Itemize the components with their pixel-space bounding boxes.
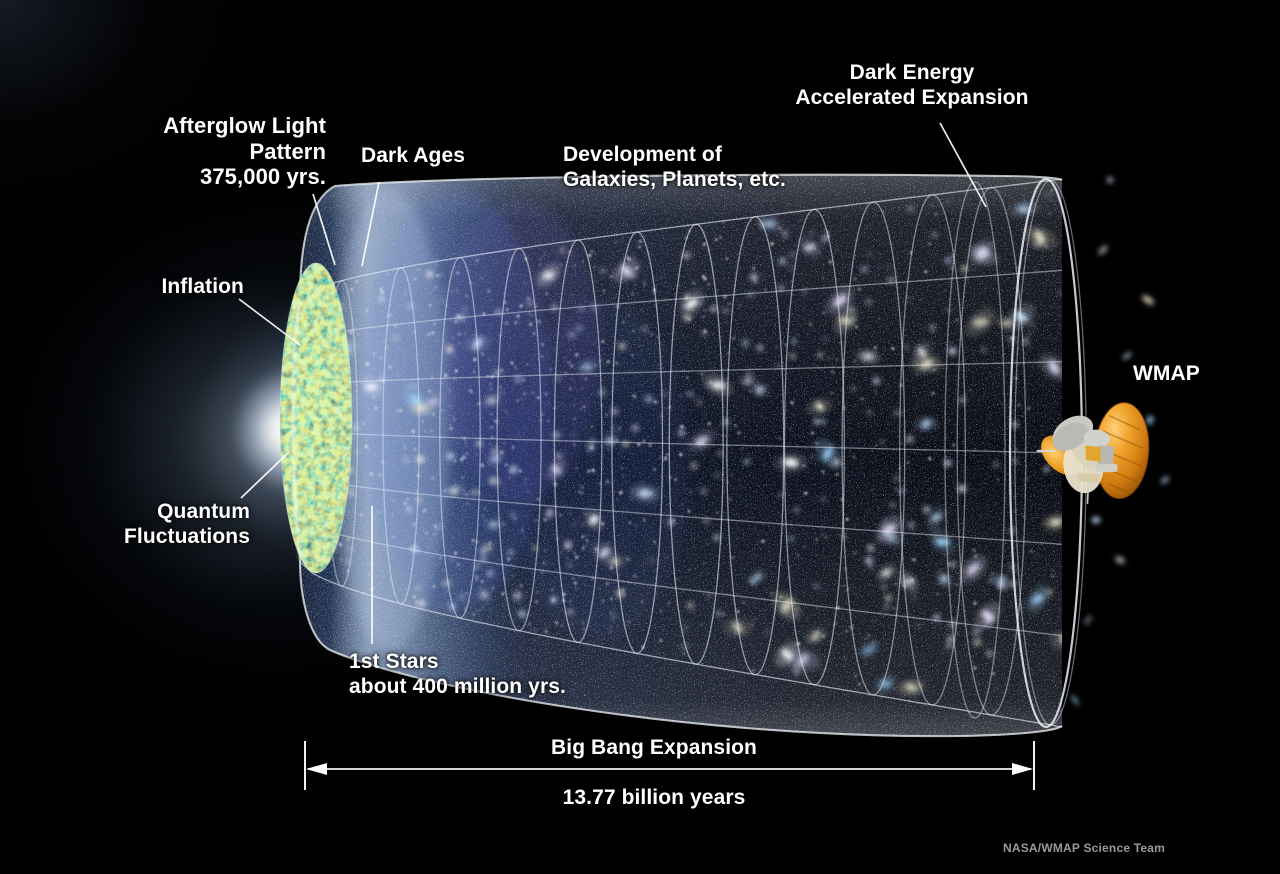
cmb-disc xyxy=(275,260,360,580)
wmap-satellite xyxy=(1018,382,1178,522)
credit-line: NASA/WMAP Science Team xyxy=(934,841,1234,855)
arrowhead-right xyxy=(1012,763,1033,775)
label-dark-energy: Dark Energy Accelerated Expansion xyxy=(760,61,1064,110)
label-development-of-galaxies: Development of Galaxies, Planets, etc. xyxy=(563,143,786,192)
label-dark-ages: Dark Ages xyxy=(361,144,465,169)
label-afterglow-light-pattern: Afterglow Light Pattern 375,000 yrs. xyxy=(60,113,326,190)
label-wmap: WMAP xyxy=(1133,362,1200,387)
label-inflation: Inflation xyxy=(60,275,244,300)
label-total-years: 13.77 billion years xyxy=(424,786,884,811)
label-big-bang-expansion: Big Bang Expansion xyxy=(424,736,884,761)
universe-timeline-figure: Afterglow Light Pattern 375,000 yrs. Inf… xyxy=(0,0,1280,874)
label-quantum-fluctuations: Quantum Fluctuations xyxy=(60,500,250,549)
arrowhead-left xyxy=(306,763,327,775)
label-first-stars: 1st Stars about 400 million yrs. xyxy=(349,650,566,699)
